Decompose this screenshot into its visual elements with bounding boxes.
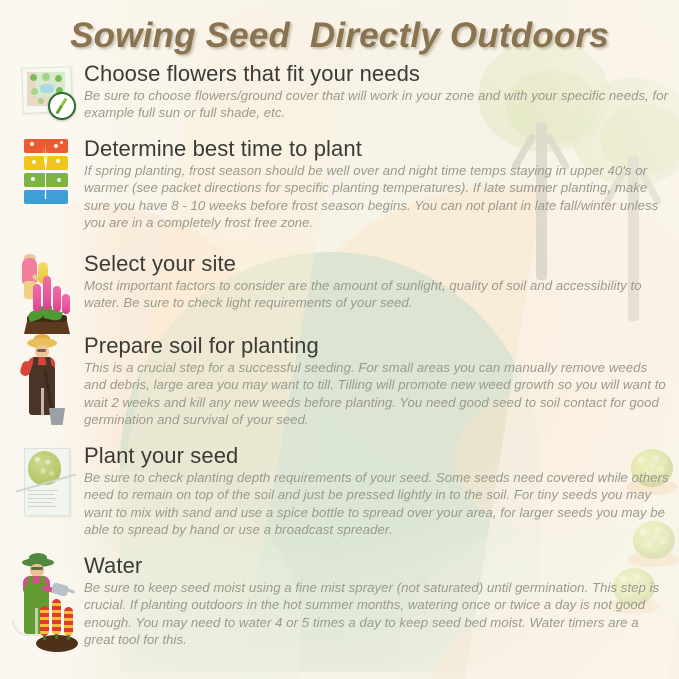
step-icon-slot [14, 334, 80, 428]
step-body: This is a crucial step for a successful … [84, 359, 669, 429]
step-title: Choose flowers that fit your needs [84, 62, 669, 86]
step-text: Water Be sure to keep seed moist using a… [80, 554, 669, 649]
step-icon-slot [14, 444, 80, 518]
watering-gardener-icon [16, 556, 78, 652]
step-icon-slot [14, 554, 80, 652]
step-title: Select your site [84, 252, 669, 276]
step-icon-slot [14, 137, 80, 205]
step-text: Prepare soil for planting This is a cruc… [80, 334, 669, 429]
step-text: Plant your seed Be sure to check plantin… [80, 444, 669, 539]
step-water: Water Be sure to keep seed moist using a… [14, 554, 669, 652]
step-body: Be sure to choose flowers/ground cover t… [84, 87, 669, 122]
seed-packet-icon [21, 446, 73, 518]
flower-bed-gardener-icon [18, 254, 76, 334]
step-body: Most important factors to consider are t… [84, 277, 669, 312]
step-determine-time: Determine best time to plant If spring p… [14, 137, 669, 232]
step-icon-slot [14, 62, 80, 120]
garden-plan-compass-icon [18, 64, 76, 120]
step-icon-slot [14, 252, 80, 334]
step-title: Plant your seed [84, 444, 669, 468]
step-body: Be sure to check planting depth requirem… [84, 469, 669, 539]
step-plant-seed: Plant your seed Be sure to check plantin… [14, 444, 669, 539]
step-text: Choose flowers that fit your needs Be su… [80, 62, 669, 122]
step-title: Water [84, 554, 669, 578]
infographic-poster: Sowing Seed Directly Outdoors [0, 0, 679, 679]
step-title: Prepare soil for planting [84, 334, 669, 358]
step-prepare-soil: Prepare soil for planting This is a cruc… [14, 334, 669, 429]
step-body: If spring planting, frost season should … [84, 162, 669, 232]
gardener-with-shovel-icon [19, 336, 75, 428]
page-title: Sowing Seed Directly Outdoors [0, 16, 679, 56]
four-seasons-icon [22, 139, 72, 205]
step-text: Determine best time to plant If spring p… [80, 137, 669, 232]
step-text: Select your site Most important factors … [80, 252, 669, 312]
step-select-site: Select your site Most important factors … [14, 252, 669, 334]
step-title: Determine best time to plant [84, 137, 669, 161]
step-body: Be sure to keep seed moist using a fine … [84, 579, 669, 649]
step-choose-flowers: Choose flowers that fit your needs Be su… [14, 62, 669, 122]
